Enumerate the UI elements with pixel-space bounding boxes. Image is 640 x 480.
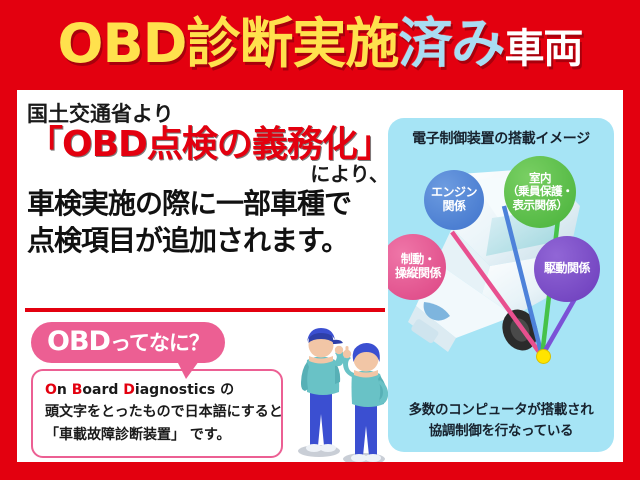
statement-connector: により、 (27, 163, 393, 185)
ecu-node-engine-line-2: 関係 (431, 200, 477, 214)
poster-root: OBD診断実施済み車両 国土交通省より 「OBD点検の義務化」 により、 車検実… (0, 0, 640, 480)
ecu-footer-line-2: 協調制御を行なっている (388, 421, 614, 442)
ecu-diagram-footer: 多数のコンピュータが搭載され 協調制御を行なっている (388, 400, 614, 442)
def-rest-n: n (57, 382, 72, 398)
poster-header: OBD診断実施済み車両 (0, 0, 640, 88)
headline-part-white: 車両 (504, 26, 582, 72)
def-initial-o: O (45, 382, 57, 398)
obd-question-text: OBDってなに？ (47, 327, 209, 357)
regulation-statement: 国土交通省より 「OBD点検の義務化」 により、 車検実施の際に一部車種で 点検… (27, 102, 393, 259)
statement-emphasis: 「OBD点検の義務化」 (27, 125, 393, 165)
ecu-node-brake-line-2: 操縦関係 (395, 267, 441, 281)
ecu-node-interior-line-2: （乗員保護・ (507, 185, 573, 198)
mechanics-illustration (285, 318, 397, 462)
obd-definition-line-3: 「車載故障診断装置」 です。 (45, 424, 269, 447)
obd-port-indicator (536, 349, 551, 364)
ecu-diagram-title: 電子制御装置の搭載イメージ (388, 128, 614, 148)
mechanics-figures-svg (285, 318, 397, 462)
def-rest-oard: oard (82, 382, 123, 398)
def-initial-d: D (123, 382, 135, 398)
def-rest-iagnostics: iagnostics (135, 382, 220, 398)
ecu-diagram-panel: 電子制御装置の搭載イメージ (388, 118, 614, 452)
obd-question-sub: ってなに？ (110, 331, 209, 355)
headline: OBD診断実施済み車両 (58, 17, 583, 71)
ecu-node-interior: 室内 （乗員保護・ 表示関係） (504, 156, 576, 228)
obd-question-bubble: OBDってなに？ (31, 322, 225, 363)
ecu-node-drive: 駆動関係 (534, 236, 600, 302)
obd-definition-line-2: 頭文字をとったもので日本語にすると (45, 401, 269, 424)
left-column: 国土交通省より 「OBD点検の義務化」 により、 車検実施の際に一部車種で 点検… (17, 90, 393, 462)
ecu-node-engine-line-1: エンジン (431, 186, 477, 200)
ecu-node-brake-label: 制動・ 操縦関係 (388, 253, 441, 281)
headline-part-yellow: OBD診断実施 (58, 12, 399, 75)
ecu-node-drive-label: 駆動関係 (544, 262, 590, 276)
obd-definition-box: On Board Diagnostics の 頭文字をとったもので日本語にすると… (31, 369, 283, 458)
bubble-tail-shape (177, 361, 199, 379)
ecu-node-interior-label: 室内 （乗員保護・ 表示関係） (507, 172, 573, 212)
statement-body-2: 点検項目が追加されます。 (27, 223, 393, 259)
obd-explainer: OBDってなに？ On Board Diagnostics の 頭文字をとったも… (31, 322, 281, 458)
statement-body-1: 車検実施の際に一部車種で (27, 186, 393, 222)
headline-part-blue: 済み (398, 12, 504, 75)
ecu-node-engine-label: エンジン 関係 (431, 186, 477, 214)
ecu-footer-line-1: 多数のコンピュータが搭載され (388, 400, 614, 421)
obd-definition-line-1: On Board Diagnostics の (45, 379, 269, 402)
ecu-node-brake-line-1: 制動・ (395, 253, 441, 267)
ecu-node-engine: エンジン 関係 (424, 170, 484, 230)
ecu-node-drive-line-1: 駆動関係 (544, 262, 590, 276)
ecu-node-interior-line-3: 表示関係） (507, 199, 573, 212)
content-panel: 国土交通省より 「OBD点検の義務化」 により、 車検実施の際に一部車種で 点検… (17, 90, 623, 462)
def-initial-b: B (72, 382, 83, 398)
section-divider (25, 308, 385, 312)
obd-question-main: OBD (47, 326, 110, 357)
def-particle-no: の (220, 382, 234, 398)
statement-intro: 国土交通省より (27, 102, 393, 126)
